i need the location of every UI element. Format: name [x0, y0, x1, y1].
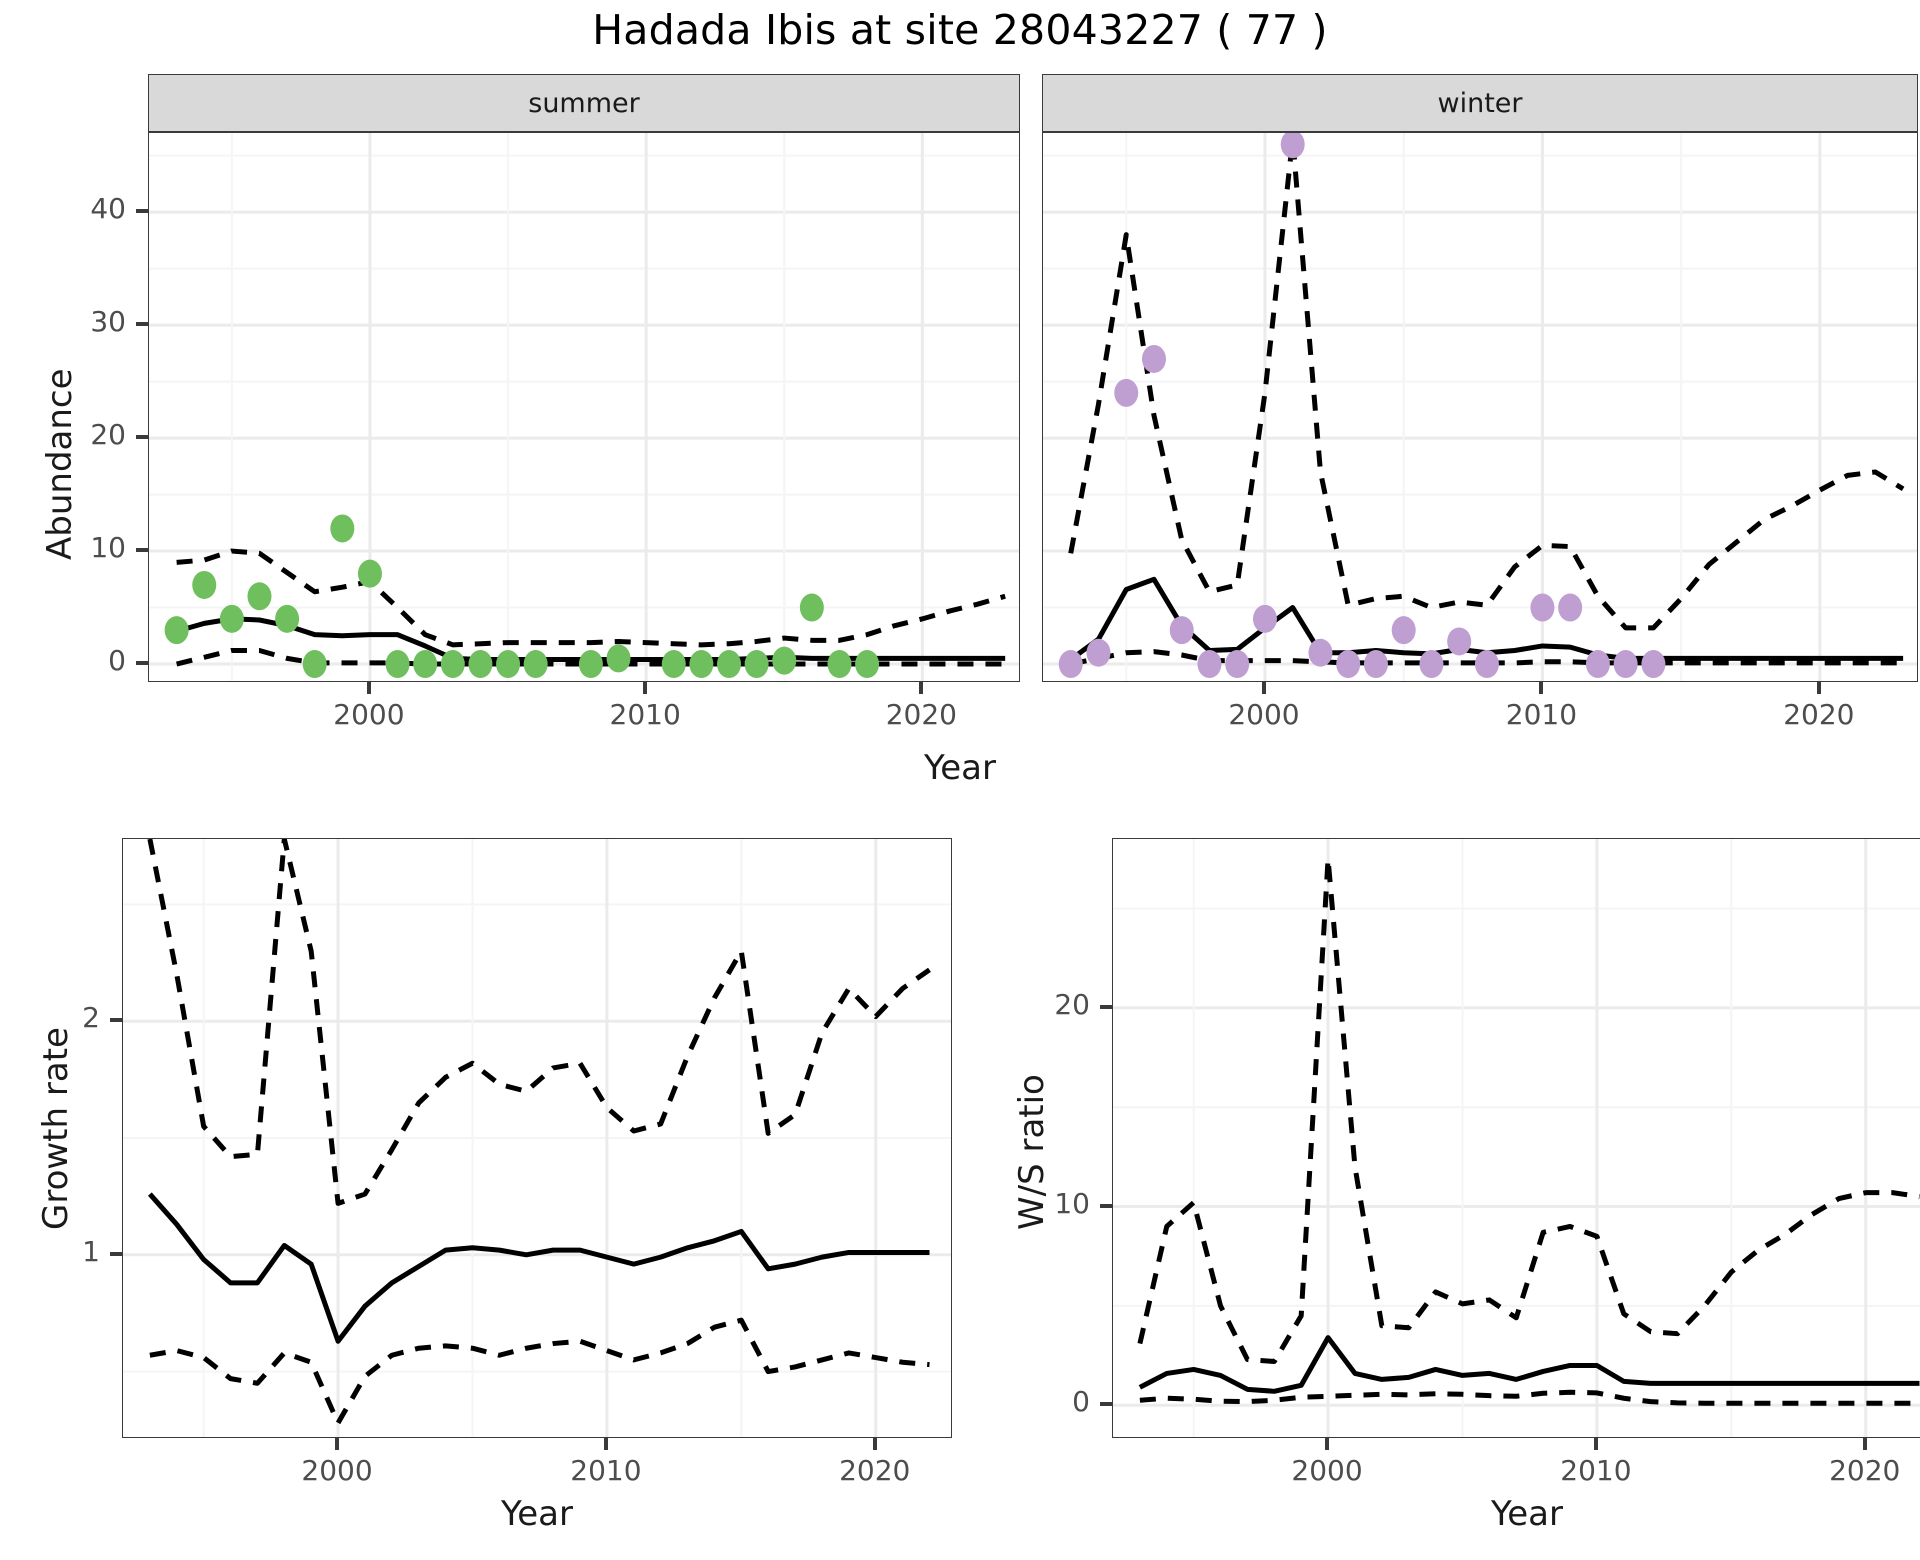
series-solid — [150, 1194, 930, 1341]
x-tick-label: 2010 — [1560, 1454, 1631, 1487]
x-tick-label: 2000 — [333, 698, 404, 731]
x-tick-mark — [367, 682, 371, 694]
y-tick-mark — [136, 322, 148, 326]
data-point — [220, 605, 244, 633]
data-point — [1170, 616, 1194, 644]
y-tick-mark — [136, 661, 148, 665]
data-point — [855, 650, 879, 678]
y-tick-label: 2 — [82, 1001, 100, 1034]
y-tick-label: 10 — [1054, 1187, 1090, 1220]
y-tick-label: 40 — [90, 192, 126, 225]
y-tick-label: 20 — [90, 418, 126, 451]
y-tick-mark — [1100, 1204, 1112, 1208]
x-tick-mark — [643, 682, 647, 694]
data-point — [1558, 594, 1582, 622]
y-tick-mark — [136, 435, 148, 439]
data-point — [607, 644, 631, 672]
y-tick-label: 0 — [108, 644, 126, 677]
x-tick-mark — [604, 1438, 608, 1450]
data-point — [192, 571, 216, 599]
panel-abundance-summer — [148, 132, 1020, 682]
data-point — [1447, 627, 1471, 655]
data-point — [1392, 616, 1416, 644]
data-point — [1475, 650, 1499, 678]
data-point — [1059, 650, 1083, 678]
data-point — [247, 582, 271, 610]
data-point — [772, 647, 796, 675]
data-point — [745, 650, 769, 678]
y-tick-mark — [1100, 1402, 1112, 1406]
data-point — [662, 650, 686, 678]
x-tick-label: 2020 — [1829, 1454, 1900, 1487]
facet-strip-winter: winter — [1042, 74, 1918, 132]
x-tick-mark — [873, 1438, 877, 1450]
x-tick-mark — [1594, 1438, 1598, 1450]
x-tick-mark — [919, 682, 923, 694]
data-point — [275, 605, 299, 633]
x-tick-label: 2010 — [1506, 698, 1577, 731]
data-point — [303, 650, 327, 678]
axis-label-abundance-x: Year — [0, 748, 1920, 788]
page-title: Hadada Ibis at site 28043227 ( 77 ) — [0, 6, 1920, 54]
data-point — [1530, 594, 1554, 622]
axis-label-ws-y: W/S ratio — [1012, 1074, 1052, 1230]
x-tick-label: 2010 — [570, 1454, 641, 1487]
x-tick-label: 2020 — [839, 1454, 910, 1487]
facet-strip-summer-label: summer — [528, 88, 640, 119]
axis-label-ws-x: Year — [1112, 1494, 1920, 1534]
data-point — [330, 514, 354, 542]
data-point — [689, 650, 713, 678]
data-point — [1364, 650, 1388, 678]
data-points — [1059, 133, 1666, 678]
data-point — [165, 616, 189, 644]
panel-abundance-winter — [1042, 132, 1918, 682]
y-tick-label: 20 — [1054, 988, 1090, 1021]
data-point — [358, 560, 382, 588]
data-point — [386, 650, 410, 678]
x-tick-mark — [1262, 682, 1266, 694]
series-solid — [1071, 579, 1903, 659]
data-point — [1253, 605, 1277, 633]
data-point — [579, 650, 603, 678]
data-point — [1586, 650, 1610, 678]
data-point — [717, 650, 741, 678]
data-point — [1614, 650, 1638, 678]
facet-strip-winter-label: winter — [1438, 88, 1523, 119]
plot-canvas-abundance-summer — [149, 133, 1019, 681]
x-tick-label: 2020 — [1783, 698, 1854, 731]
y-tick-mark — [1100, 1005, 1112, 1009]
y-tick-label: 1 — [82, 1235, 100, 1268]
series-dashed — [1140, 1392, 1920, 1403]
plot-canvas-ws-ratio — [1113, 839, 1920, 1437]
y-tick-label: 0 — [1072, 1385, 1090, 1418]
panel-growth-rate — [122, 838, 952, 1438]
y-tick-label: 10 — [90, 531, 126, 564]
data-point — [413, 650, 437, 678]
data-point — [1142, 345, 1166, 373]
y-tick-mark — [110, 1018, 122, 1022]
data-point — [1114, 379, 1138, 407]
x-tick-label: 2010 — [610, 698, 681, 731]
plot-canvas-abundance-winter — [1043, 133, 1917, 681]
y-tick-mark — [136, 209, 148, 213]
x-tick-mark — [1539, 682, 1543, 694]
axis-label-growth-x: Year — [122, 1494, 952, 1534]
data-point — [496, 650, 520, 678]
data-point — [800, 594, 824, 622]
x-tick-mark — [335, 1438, 339, 1450]
data-point — [524, 650, 548, 678]
data-point — [827, 650, 851, 678]
x-tick-label: 2020 — [886, 698, 957, 731]
series-dashed — [1140, 859, 1920, 1362]
axis-label-growth-y: Growth rate — [36, 1027, 76, 1230]
data-point — [1225, 650, 1249, 678]
x-tick-label: 2000 — [1291, 1454, 1362, 1487]
facet-strip-summer: summer — [148, 74, 1020, 132]
figure-root: Hadada Ibis at site 28043227 ( 77 ) summ… — [0, 0, 1920, 1560]
data-point — [1336, 650, 1360, 678]
data-point — [441, 650, 465, 678]
x-tick-label: 2000 — [301, 1454, 372, 1487]
panel-ws-ratio — [1112, 838, 1920, 1438]
series-solid — [1140, 1338, 1920, 1392]
data-point — [468, 650, 492, 678]
y-tick-label: 30 — [90, 305, 126, 338]
x-tick-label: 2000 — [1228, 698, 1299, 731]
data-point — [1308, 639, 1332, 667]
data-point — [1281, 133, 1305, 158]
plot-canvas-growth-rate — [123, 839, 951, 1437]
data-point — [1197, 650, 1221, 678]
x-tick-mark — [1325, 1438, 1329, 1450]
data-point — [1419, 650, 1443, 678]
y-tick-mark — [110, 1252, 122, 1256]
axis-label-abundance-y: Abundance — [40, 368, 80, 560]
data-point — [1086, 639, 1110, 667]
data-point — [1641, 650, 1665, 678]
y-tick-mark — [136, 548, 148, 552]
x-tick-mark — [1817, 682, 1821, 694]
x-tick-mark — [1863, 1438, 1867, 1450]
